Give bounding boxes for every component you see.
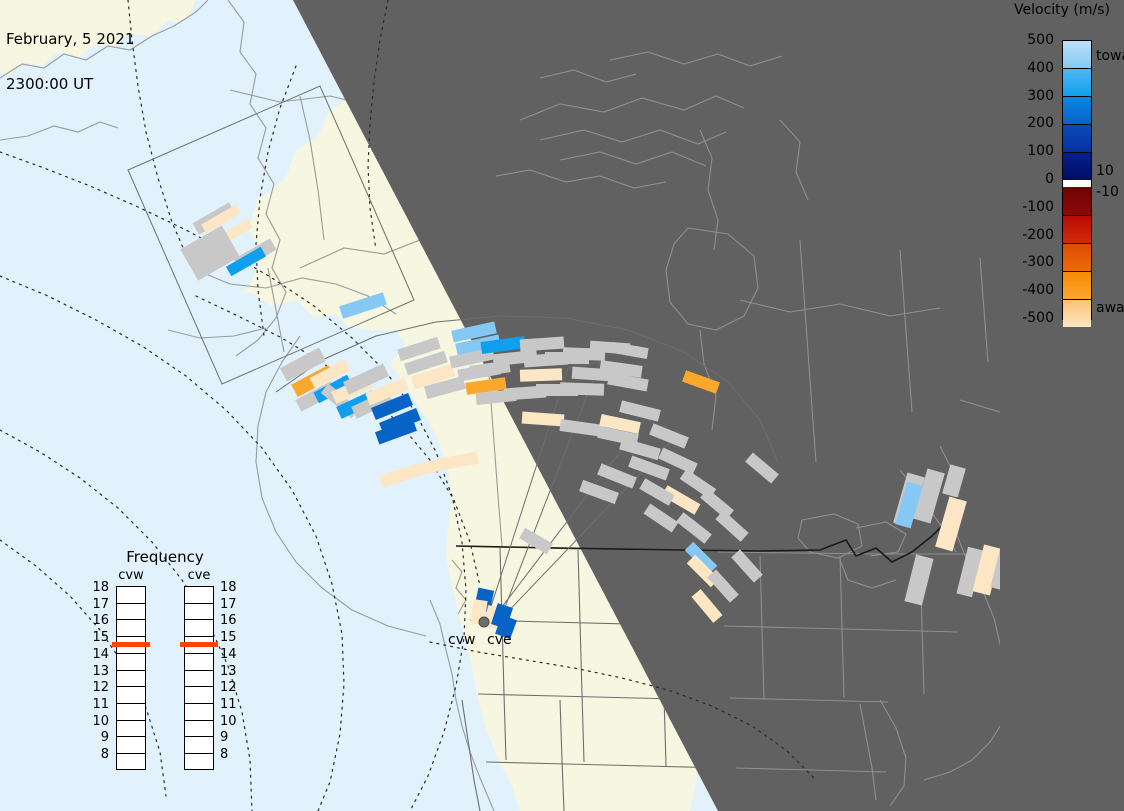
colorbar-toward-label: toward (1096, 48, 1124, 64)
colorbar-panel: Velocity (m/s) 5004003002001000-100-200-… (1000, 0, 1124, 811)
frequency-legend: Frequency cvw cve 18171615141312111098 1… (95, 548, 235, 783)
colorbar-tick--300: -300 (1022, 254, 1054, 270)
frequency-marker-cvw (112, 642, 150, 647)
frequency-cell (185, 587, 213, 604)
frequency-scale-label: 15 (87, 630, 109, 647)
colorbar-tick-0: 0 (1045, 171, 1054, 187)
colorbar-band-3 (1063, 125, 1091, 153)
frequency-cell (185, 737, 213, 754)
frequency-scale-label: 10 (87, 714, 109, 731)
frequency-cell (117, 754, 145, 771)
colorbar-band-6 (1063, 216, 1091, 244)
frequency-scale-label: 14 (220, 647, 242, 664)
colorbar-tick--500: -500 (1022, 310, 1054, 326)
frequency-scale-right: 18171615141312111098 (220, 580, 242, 764)
site-label-cvw: cvw (448, 632, 475, 648)
colorbar-tick--100: -100 (1022, 199, 1054, 215)
site-label-cve: cve (487, 632, 512, 648)
frequency-cell (185, 704, 213, 721)
colorbar-band-4 (1063, 153, 1091, 180)
frequency-scale-label: 11 (87, 697, 109, 714)
frequency-bar-cvw (116, 586, 146, 770)
colorbar-band-0 (1063, 41, 1091, 69)
frequency-scale-label: 14 (87, 647, 109, 664)
frequency-cell (185, 604, 213, 621)
frequency-cell (117, 671, 145, 688)
frequency-column-header-cve: cve (179, 568, 219, 583)
frequency-title: Frequency (95, 548, 235, 566)
map-canvas: February, 5 2021 2300:00 UT cvw cve Freq… (0, 0, 1124, 811)
frequency-cell (185, 620, 213, 637)
frequency-scale-label: 13 (87, 664, 109, 681)
frequency-cell (185, 754, 213, 771)
colorbar-tick-400: 400 (1027, 60, 1054, 76)
frequency-scale-label: 11 (220, 697, 242, 714)
colorbar-gradient (1062, 40, 1092, 320)
frequency-cell (117, 604, 145, 621)
frequency-cell (117, 620, 145, 637)
frequency-cell (117, 687, 145, 704)
frequency-scale-label: 12 (87, 680, 109, 697)
frequency-scale-label: 9 (87, 730, 109, 747)
frequency-column-header-cvw: cvw (111, 568, 151, 583)
radar-site-marker (479, 617, 489, 627)
frequency-cell (117, 654, 145, 671)
timestamp-date: February, 5 2021 (6, 32, 135, 47)
frequency-cell (117, 704, 145, 721)
frequency-cell (185, 671, 213, 688)
ground-scatter-cell (560, 382, 604, 396)
colorbar-band-9 (1063, 300, 1091, 327)
colorbar-away-label: away (1096, 300, 1124, 316)
frequency-scale-label: 18 (220, 580, 242, 597)
colorbar-tick-500: 500 (1027, 32, 1054, 48)
frequency-bar-cve (184, 586, 214, 770)
colorbar-zero-gap (1063, 180, 1091, 187)
colorbar-tick-300: 300 (1027, 88, 1054, 104)
frequency-scale-label: 16 (87, 613, 109, 630)
frequency-cell (117, 721, 145, 738)
colorbar-tick--400: -400 (1022, 282, 1054, 298)
frequency-cell (185, 654, 213, 671)
frequency-scale-label: 12 (220, 680, 242, 697)
frequency-scale-label: 9 (220, 730, 242, 747)
frequency-scale-label: 18 (87, 580, 109, 597)
frequency-cell (117, 737, 145, 754)
frequency-scale-label: 15 (220, 630, 242, 647)
frequency-cell (117, 587, 145, 604)
frequency-scale-label: 17 (220, 597, 242, 614)
frequency-scale-label: 10 (220, 714, 242, 731)
colorbar-title: Velocity (m/s) (1000, 2, 1124, 18)
colorbar-band-7 (1063, 244, 1091, 272)
colorbar-band-5 (1063, 187, 1091, 215)
timestamp-time: 2300:00 UT (6, 77, 135, 92)
colorbar-tick--200: -200 (1022, 227, 1054, 243)
colorbar-tick-labels: 5004003002001000-100-200-300-400-500 (1000, 30, 1058, 330)
frequency-marker-cve (180, 642, 218, 647)
frequency-scale-label: 8 (87, 747, 109, 764)
colorbar-band-8 (1063, 272, 1091, 300)
frequency-scale-label: 8 (220, 747, 242, 764)
frequency-cell (185, 721, 213, 738)
frequency-scale-label: 13 (220, 664, 242, 681)
colorbar-band-1 (1063, 69, 1091, 97)
colorbar-tick-200: 200 (1027, 115, 1054, 131)
frequency-scale-left: 18171615141312111098 (87, 580, 109, 764)
colorbar-tick-100: 100 (1027, 143, 1054, 159)
frequency-scale-label: 16 (220, 613, 242, 630)
frequency-cell (185, 687, 213, 704)
timestamp: February, 5 2021 2300:00 UT (6, 2, 135, 122)
colorbar-band-2 (1063, 97, 1091, 125)
colorbar-negative-threshold: -10 (1096, 184, 1119, 200)
velocity-cell (520, 368, 562, 381)
colorbar-positive-threshold: 10 (1096, 163, 1114, 179)
frequency-scale-label: 17 (87, 597, 109, 614)
